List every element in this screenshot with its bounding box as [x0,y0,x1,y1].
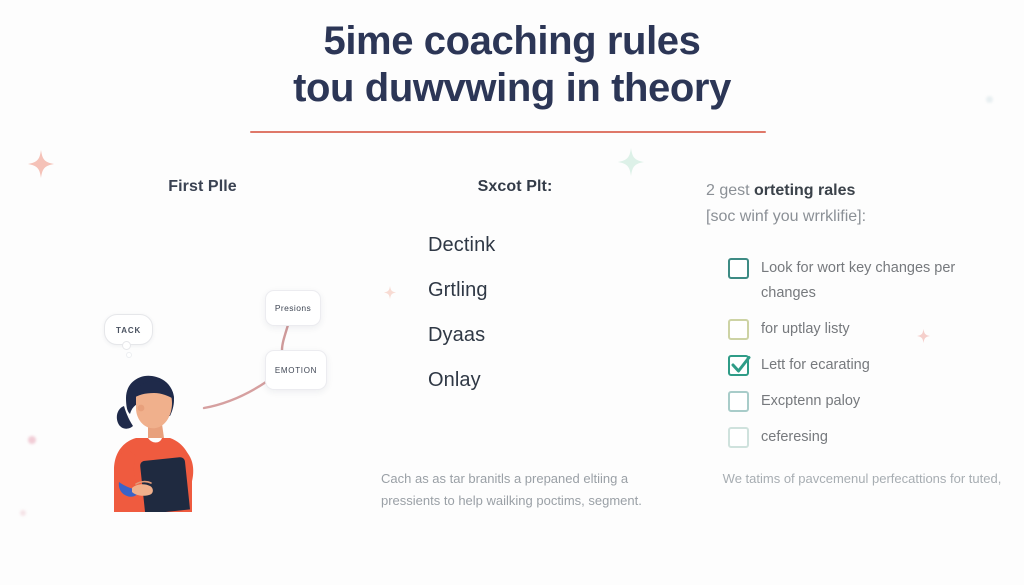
decorative-dot-bottom-left [20,510,26,516]
checklist-label: ceferesing [761,425,828,450]
middle-column-footnote: Cach as as tar branitls a prepaned eltii… [381,468,661,512]
middle-column: Sxcot Plt: Dectink Grtling Dyaas Onlay [370,178,660,414]
sparkle-icon-right-upper [618,148,644,176]
checkmark-icon [730,354,752,376]
checkbox-unchecked[interactable] [728,427,749,448]
right-column: 2 gest orteting rales [soc winf you wrrk… [706,178,996,461]
checklist-row[interactable]: for uptlay listy [728,317,996,342]
checklist-row[interactable]: Look for wort key changes per changes [728,256,996,306]
node-card-presions[interactable]: Presions [265,290,321,326]
page-title-line-2: tou duwvwing in theory [0,65,1024,112]
checkbox-checked[interactable] [728,355,749,376]
left-illustration-area: TACK [60,222,345,512]
right-heading-prefix: 2 gest [706,182,754,199]
speech-bubble: TACK [104,314,153,345]
checklist-row[interactable]: Excptenn paloy [728,389,996,414]
checkbox-unchecked[interactable] [728,319,749,340]
title-divider [250,131,766,133]
left-column: First Plle TACK [60,178,345,512]
middle-column-list: Dectink Grtling Dyaas Onlay [370,234,660,392]
middle-column-heading: Sxcot Plt: [370,178,660,196]
right-column-heading-line-2: [soc winf you wrrklifie]: [706,204,996,230]
left-column-heading: First Plle [60,178,345,196]
checklist-label: Lett for ecarating [761,353,870,378]
node-card-emotion[interactable]: EMOTION [265,350,327,390]
page-title-line-1: 5ime coaching rules [0,18,1024,65]
speech-bubble-dot [126,352,132,358]
checkbox-unchecked[interactable] [728,391,749,412]
person-illustration [96,372,216,512]
decorative-dot-lower-left [28,436,36,444]
checklist: Look for wort key changes per changes fo… [706,256,996,450]
speech-bubble-tail [122,341,131,350]
list-item[interactable]: Dyaas [370,324,660,347]
checklist-label: for uptlay listy [761,317,850,342]
right-heading-bold: orteting rales [754,182,855,199]
checklist-row[interactable]: ceferesing [728,425,996,450]
right-column-footnote: We tatims of pavcemenul perfecattions fo… [722,468,1002,490]
sparkle-icon-top-left [28,150,54,178]
checklist-label: Look for wort key changes per changes [761,256,996,306]
list-item[interactable]: Dectink [370,234,660,257]
page-title: 5ime coaching rules tou duwvwing in theo… [0,18,1024,112]
list-item[interactable]: Onlay [370,369,660,392]
checklist-label: Excptenn paloy [761,389,860,414]
checkbox-unchecked[interactable] [728,258,749,279]
node-card-emotion-label: EMOTION [275,366,317,375]
list-item[interactable]: Grtling [370,279,660,302]
speech-bubble-label: TACK [116,326,141,335]
checklist-row[interactable]: Lett for ecarating [728,353,996,378]
right-column-heading-line-1: 2 gest orteting rales [706,178,996,204]
node-card-presions-label: Presions [275,303,311,313]
